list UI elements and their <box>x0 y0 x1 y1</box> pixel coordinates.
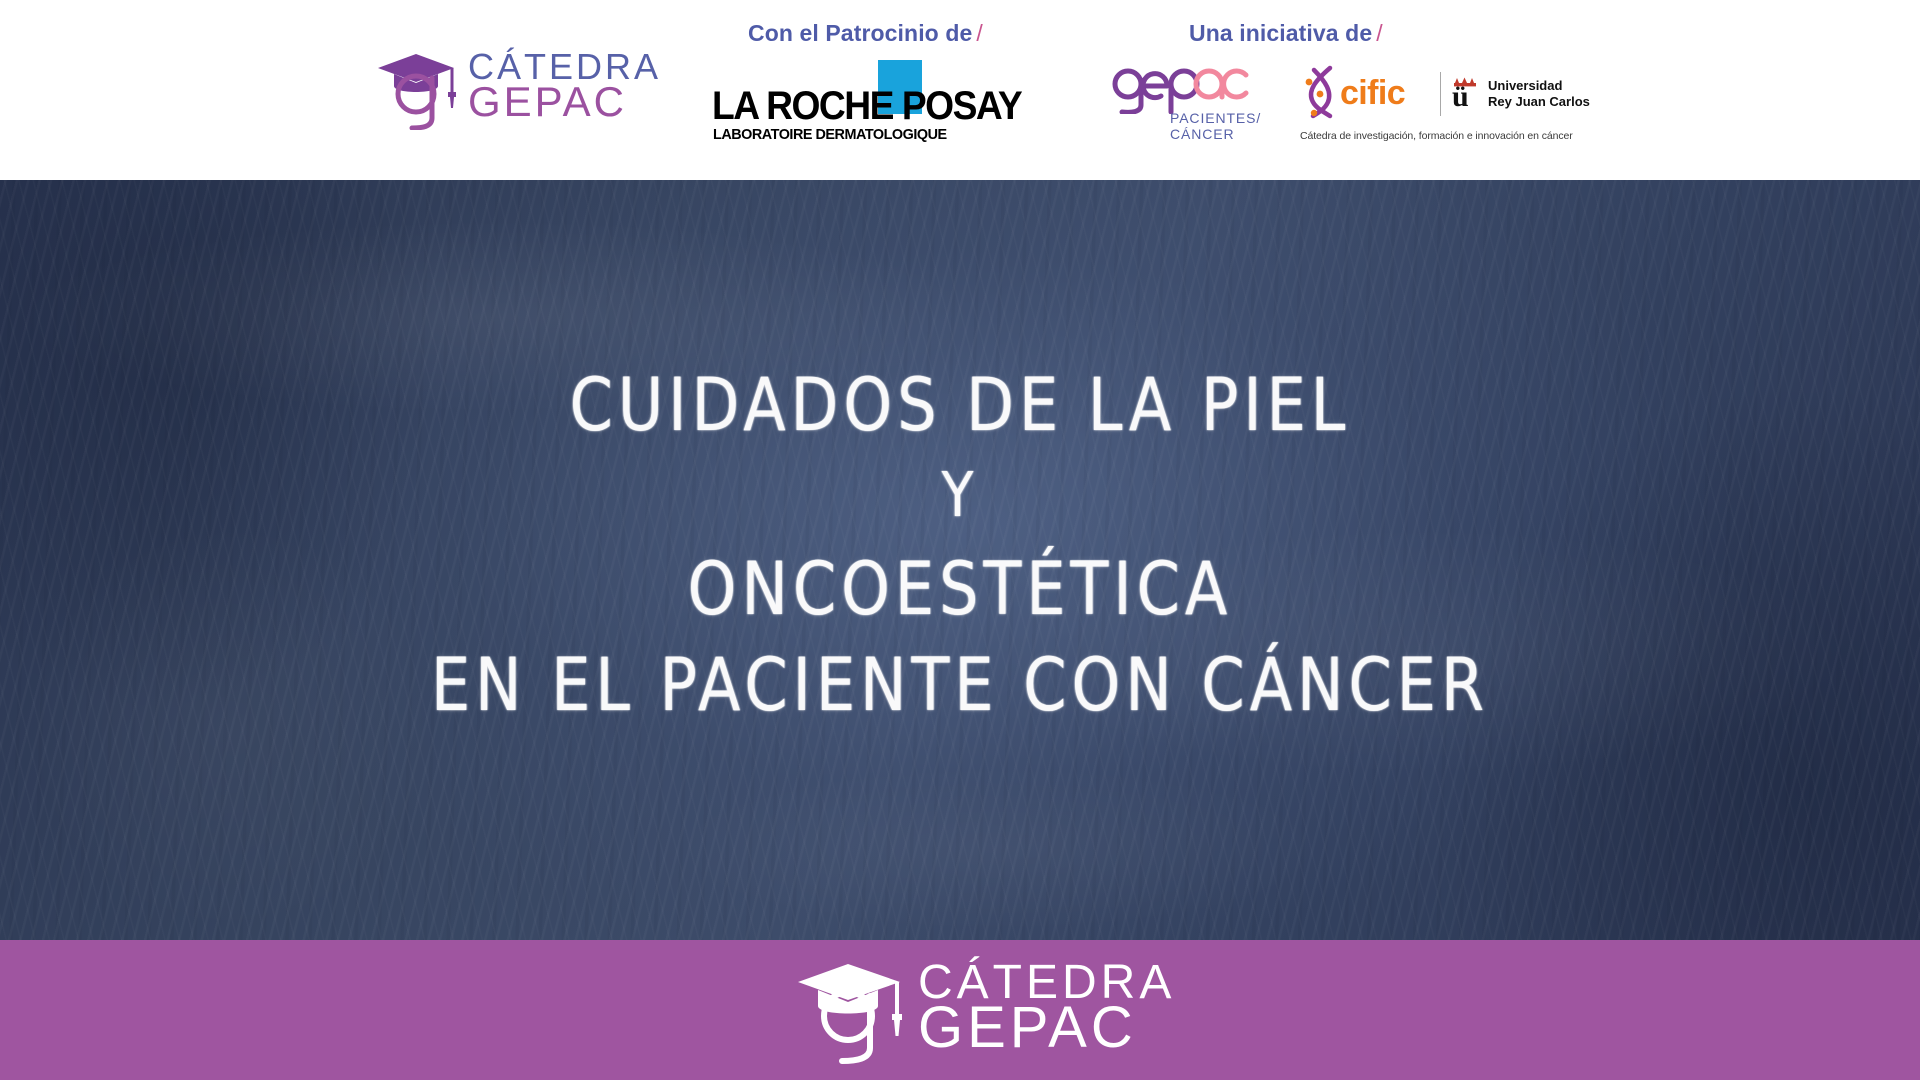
gepac-tagline: PACIENTES/ CÁNCER <box>1170 110 1261 142</box>
chalkboard-background: CUIDADOS DE LA PIEL Y ONCOESTÉTICA EN EL… <box>0 180 1920 940</box>
gepac-label: GEPAC <box>468 82 661 122</box>
cific-urjc-logo: cific ü Universidad Rey Juan Carlos Cáte… <box>1300 62 1532 146</box>
urjc-u-letter: ü <box>1452 82 1469 112</box>
presentation-slide: CÁTEDRA GEPAC Con el Patrocinio de/ Una … <box>0 0 1920 1080</box>
sponsor-credit-slash: / <box>976 20 983 46</box>
graduation-cap-g-icon <box>790 956 908 1064</box>
slide-title-block: CUIDADOS DE LA PIEL Y ONCOESTÉTICA EN EL… <box>0 180 1920 940</box>
sponsor-credit-text: Con el Patrocinio de <box>748 20 972 46</box>
urjc-crest-icon: ü <box>1452 74 1478 116</box>
urjc-name: Universidad Rey Juan Carlos <box>1488 78 1590 111</box>
roche-subtitle: LABORATOIRE DERMATOLOGIQUE <box>713 126 947 143</box>
title-line-2: Y <box>942 465 979 526</box>
urjc-name-line2: Rey Juan Carlos <box>1488 94 1590 110</box>
cific-tagline: Cátedra de investigación, formación e in… <box>1300 130 1532 142</box>
footer-gepac-label: GEPAC <box>918 1001 1175 1056</box>
catedra-gepac-footer-wordmark: CÁTEDRA GEPAC <box>918 960 1175 1056</box>
gepac-wordmark-icon <box>1110 62 1250 114</box>
title-line-3: ONCOESTÉTICA <box>688 552 1233 625</box>
gepac-tagline-line1: PACIENTES/ <box>1170 110 1261 126</box>
title-line-1: CUIDADOS DE LA PIEL <box>570 368 1351 441</box>
initiative-credit-text: Una iniciativa de <box>1189 20 1372 46</box>
catedra-gepac-wordmark: CÁTEDRA GEPAC <box>468 50 661 122</box>
cific-wordmark: cific <box>1340 76 1405 110</box>
graduation-cap-g-icon <box>372 48 460 130</box>
la-roche-posay-logo: LA ROCHE POSAY LABORATOIRE DERMATOLOGIQU… <box>712 60 994 136</box>
gepac-pacientes-cancer-logo: PACIENTES/ CÁNCER <box>1110 62 1250 142</box>
catedra-gepac-footer-logo: CÁTEDRA GEPAC <box>790 954 1140 1066</box>
roche-wordmark: LA ROCHE POSAY <box>712 86 974 126</box>
sponsor-credit-label: Con el Patrocinio de/ <box>748 20 983 47</box>
title-line-4: EN EL PACIENTE CON CÁNCER <box>431 648 1489 721</box>
slide-header: CÁTEDRA GEPAC Con el Patrocinio de/ Una … <box>0 0 1920 180</box>
awareness-ribbon-icon <box>1300 64 1344 120</box>
initiative-credit-label: Una iniciativa de/ <box>1189 20 1383 47</box>
urjc-name-line1: Universidad <box>1488 78 1590 94</box>
initiative-credit-slash: / <box>1376 20 1383 46</box>
catedra-gepac-logo: CÁTEDRA GEPAC <box>372 48 632 130</box>
slide-footer: CÁTEDRA GEPAC <box>0 940 1920 1080</box>
gepac-tagline-line2: CÁNCER <box>1170 126 1261 142</box>
logo-divider <box>1440 72 1441 116</box>
